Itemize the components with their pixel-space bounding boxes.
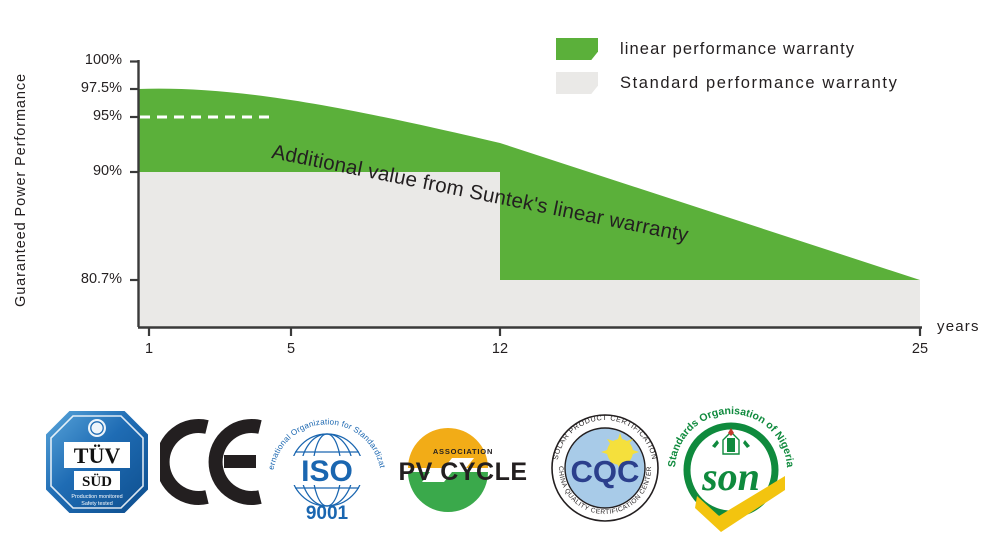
y-tick-label-90: 90% bbox=[48, 163, 122, 179]
y-axis-title-text: Guaranteed Power Performance bbox=[13, 73, 29, 307]
iso-sub-text: 9001 bbox=[306, 503, 349, 524]
warranty-chart: Guaranteed Power Performance 100% 97.5% … bbox=[0, 0, 1000, 380]
son-main-text: son bbox=[701, 454, 760, 499]
cert-logo-tuv-sud: TÜV SÜD Production monitored Safety test… bbox=[32, 392, 162, 542]
x-tick-label-1: 1 bbox=[129, 341, 169, 357]
tuv-main-text: TÜV bbox=[74, 443, 121, 468]
legend-item-standard: Standard performance warranty bbox=[556, 66, 956, 100]
cert-logo-son: Standards Organisation of Nigeria son bbox=[665, 392, 800, 542]
y-tick-label-80-7: 80.7% bbox=[44, 271, 122, 287]
y-tick-label-95: 95% bbox=[48, 108, 122, 124]
legend-swatch-green bbox=[556, 38, 598, 60]
tuv-sub-text: SÜD bbox=[82, 473, 112, 490]
y-tick-label-97-5: 97.5% bbox=[48, 80, 122, 96]
chart-legend: linear performance warranty Standard per… bbox=[556, 32, 956, 100]
tuv-caption-2: Safety tested bbox=[81, 501, 112, 507]
cert-logo-cqc: SOLAR PRODUCT CERTIFICATION CHINA QUALIT… bbox=[543, 392, 668, 542]
y-axis-title: Guaranteed Power Performance bbox=[6, 40, 36, 340]
legend-label-linear: linear performance warranty bbox=[620, 40, 855, 59]
legend-item-linear: linear performance warranty bbox=[556, 32, 956, 66]
cert-logo-pv-cycle: ASSOCIATION PV CYCLE bbox=[388, 392, 538, 542]
legend-swatch-gray bbox=[556, 72, 598, 94]
legend-label-standard: Standard performance warranty bbox=[620, 74, 898, 93]
iso-main-text: ISO bbox=[301, 455, 353, 488]
certification-logos: TÜV SÜD Production monitored Safety test… bbox=[0, 392, 1000, 549]
x-tick-label-5: 5 bbox=[271, 341, 311, 357]
son-emblem-icon bbox=[712, 428, 750, 454]
y-tick-label-100: 100% bbox=[48, 52, 122, 68]
cqc-main-text: CQC bbox=[571, 454, 640, 489]
pvcycle-main-text: PV CYCLE bbox=[398, 458, 527, 486]
x-tick-label-12: 12 bbox=[480, 341, 520, 357]
x-axis-unit: years bbox=[937, 318, 980, 335]
x-tick-label-25: 25 bbox=[900, 341, 940, 357]
cert-logo-iso-9001: International Organization for Standardi… bbox=[262, 392, 392, 542]
cert-logo-ce-mark bbox=[160, 392, 270, 542]
pvcycle-sub-text: ASSOCIATION bbox=[433, 447, 493, 456]
warranty-infographic: Guaranteed Power Performance 100% 97.5% … bbox=[0, 0, 1000, 549]
tuv-caption-1: Production monitored bbox=[71, 494, 122, 500]
